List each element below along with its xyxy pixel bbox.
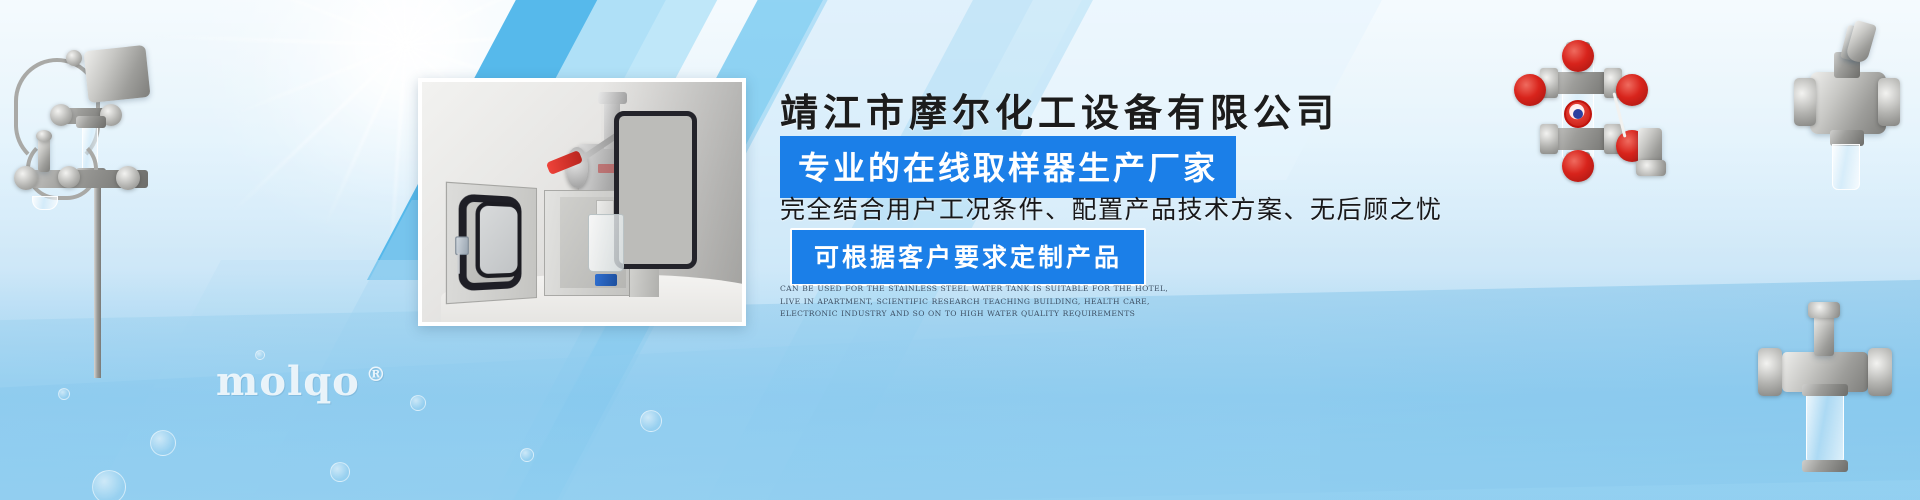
cta-label: 可根据客户要求定制产品 (814, 244, 1122, 272)
headline-highlight: 专业的在线取样器生产厂家 (780, 136, 1236, 198)
headline-text: 专业的在线取样器生产厂家 (798, 149, 1218, 187)
promo-banner: 靖江市摩尔化工设备有限公司 专业的在线取样器生产厂家 完全结合用户工况条件、配置… (0, 0, 1920, 500)
left-equipment-sampling-rig (10, 20, 190, 360)
watermark-wordmark: molqo (216, 358, 360, 405)
water-bubble (410, 395, 426, 411)
water-bubble (150, 430, 176, 456)
water-bubble (58, 388, 70, 400)
water-bubble (92, 470, 126, 500)
water-bubble (520, 448, 534, 462)
water-bubble (640, 410, 662, 432)
product-photo (418, 78, 746, 326)
subheadline-text: 完全结合用户工况条件、配置产品技术方案、无后顾之忧 (780, 190, 1443, 226)
right-equipment-flanged-lever-valve (1790, 26, 1910, 201)
brand-watermark: molqo® (216, 358, 387, 405)
banner-text-column: 靖江市摩尔化工设备有限公司 专业的在线取样器生产厂家 完全结合用户工况条件、配置… (780, 0, 1780, 500)
registered-trademark-icon: ® (366, 362, 387, 386)
company-title: 靖江市摩尔化工设备有限公司 (780, 82, 1339, 137)
cta-button[interactable]: 可根据客户要求定制产品 (790, 228, 1146, 286)
water-bubble (330, 462, 350, 482)
english-description: CAN BE USED FOR THE STAINLESS STEEL WATE… (780, 283, 1184, 321)
